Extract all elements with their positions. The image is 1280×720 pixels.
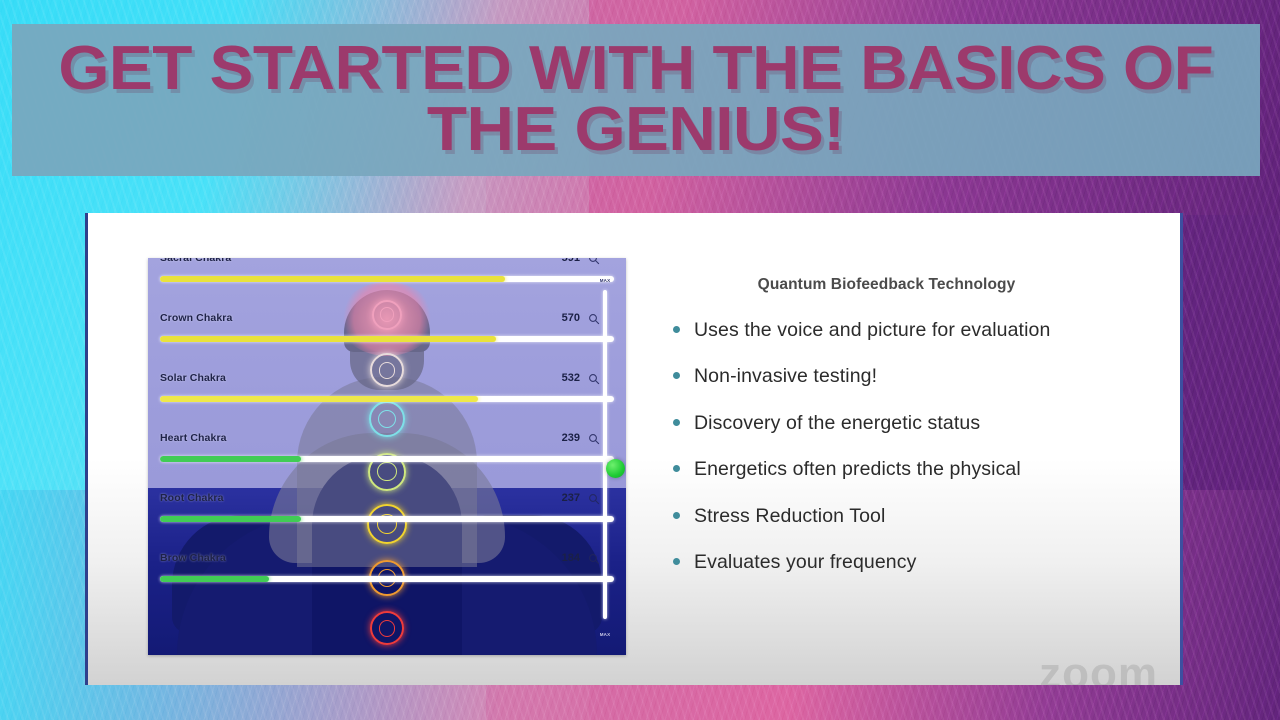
chakra-row-value: 239 — [562, 432, 580, 444]
bullet-item: Evaluates your frequency — [673, 552, 1140, 573]
bullet-item: Uses the voice and picture for evaluatio… — [673, 320, 1140, 341]
bullet-item: Energetics often predicts the physical — [673, 459, 1140, 480]
slider-handle[interactable] — [606, 459, 625, 478]
chakra-row-value: 570 — [562, 312, 580, 324]
bullet-text: Discovery of the energetic status — [694, 413, 980, 434]
bullet-text: Energetics often predicts the physical — [694, 459, 1021, 480]
chakra-progress-bar — [160, 576, 614, 582]
chakra-progress-fill — [160, 336, 496, 342]
chakra-row[interactable]: Brow Chakra184 — [148, 552, 626, 612]
chakra-row[interactable]: Sacral Chakra591 — [148, 258, 626, 312]
bullet-dot-icon — [673, 326, 680, 333]
chakra-progress-fill — [160, 576, 269, 582]
bullet-item: Non-invasive testing! — [673, 366, 1140, 387]
chakra-row-label: Solar Chakra — [160, 372, 226, 384]
chakra-reading-list: Sacral Chakra591Crown Chakra570Solar Cha… — [148, 258, 626, 655]
bullet-list: Uses the voice and picture for evaluatio… — [673, 320, 1140, 574]
bullet-item: Discovery of the energetic status — [673, 413, 1140, 434]
chakra-progress-fill — [160, 516, 301, 522]
chakra-progress-fill — [160, 276, 505, 282]
bullet-item: Stress Reduction Tool — [673, 506, 1140, 527]
bullet-text: Uses the voice and picture for evaluatio… — [694, 320, 1050, 341]
chakra-row-label: Brow Chakra — [160, 552, 226, 564]
slider-top-label: MAX — [590, 278, 620, 283]
chakra-row-value: 237 — [562, 492, 580, 504]
magnifier-icon[interactable] — [588, 258, 600, 264]
page-title: GET STARTED WITH THE BASICS OF THE GENIU… — [48, 39, 1224, 161]
chakra-row-value: 591 — [562, 258, 580, 264]
bullet-dot-icon — [673, 512, 680, 519]
chakra-row[interactable]: Solar Chakra532 — [148, 372, 626, 432]
chakra-progress-bar — [160, 516, 614, 522]
bullet-dot-icon — [673, 465, 680, 472]
chakra-biofeedback-app: Sacral Chakra591Crown Chakra570Solar Cha… — [148, 258, 626, 655]
chakra-row[interactable]: Heart Chakra239 — [148, 432, 626, 492]
chakra-progress-bar — [160, 396, 614, 402]
chakra-progress-fill — [160, 456, 301, 462]
content-heading: Quantum Biofeedback Technology — [673, 276, 1140, 294]
chakra-progress-bar — [160, 336, 614, 342]
chakra-row-label: Crown Chakra — [160, 312, 232, 324]
chakra-row[interactable]: Root Chakra237 — [148, 492, 626, 552]
zoom-watermark: zoom — [1039, 649, 1158, 685]
bullet-dot-icon — [673, 372, 680, 379]
bullet-text: Evaluates your frequency — [694, 552, 916, 573]
bullet-text: Non-invasive testing! — [694, 366, 877, 387]
chakra-row[interactable]: Crown Chakra570 — [148, 312, 626, 372]
chakra-row-value: 184 — [562, 552, 580, 564]
chakra-progress-fill — [160, 396, 478, 402]
bullet-dot-icon — [673, 558, 680, 565]
intensity-slider[interactable]: MAX MAX — [592, 272, 618, 641]
slider-track[interactable] — [603, 290, 607, 619]
chakra-row-label: Root Chakra — [160, 492, 224, 504]
chakra-row-label: Sacral Chakra — [160, 258, 231, 264]
bullet-dot-icon — [673, 419, 680, 426]
chakra-row-label: Heart Chakra — [160, 432, 227, 444]
chakra-progress-bar — [160, 456, 614, 462]
content-column: Quantum Biofeedback Technology Uses the … — [673, 258, 1140, 599]
slider-bottom-label: MAX — [590, 632, 620, 637]
chakra-row-value: 532 — [562, 372, 580, 384]
chakra-progress-bar — [160, 276, 614, 282]
bullet-text: Stress Reduction Tool — [694, 506, 885, 527]
presentation-slide: Sacral Chakra591Crown Chakra570Solar Cha… — [85, 213, 1183, 685]
title-banner: GET STARTED WITH THE BASICS OF THE GENIU… — [12, 24, 1260, 176]
